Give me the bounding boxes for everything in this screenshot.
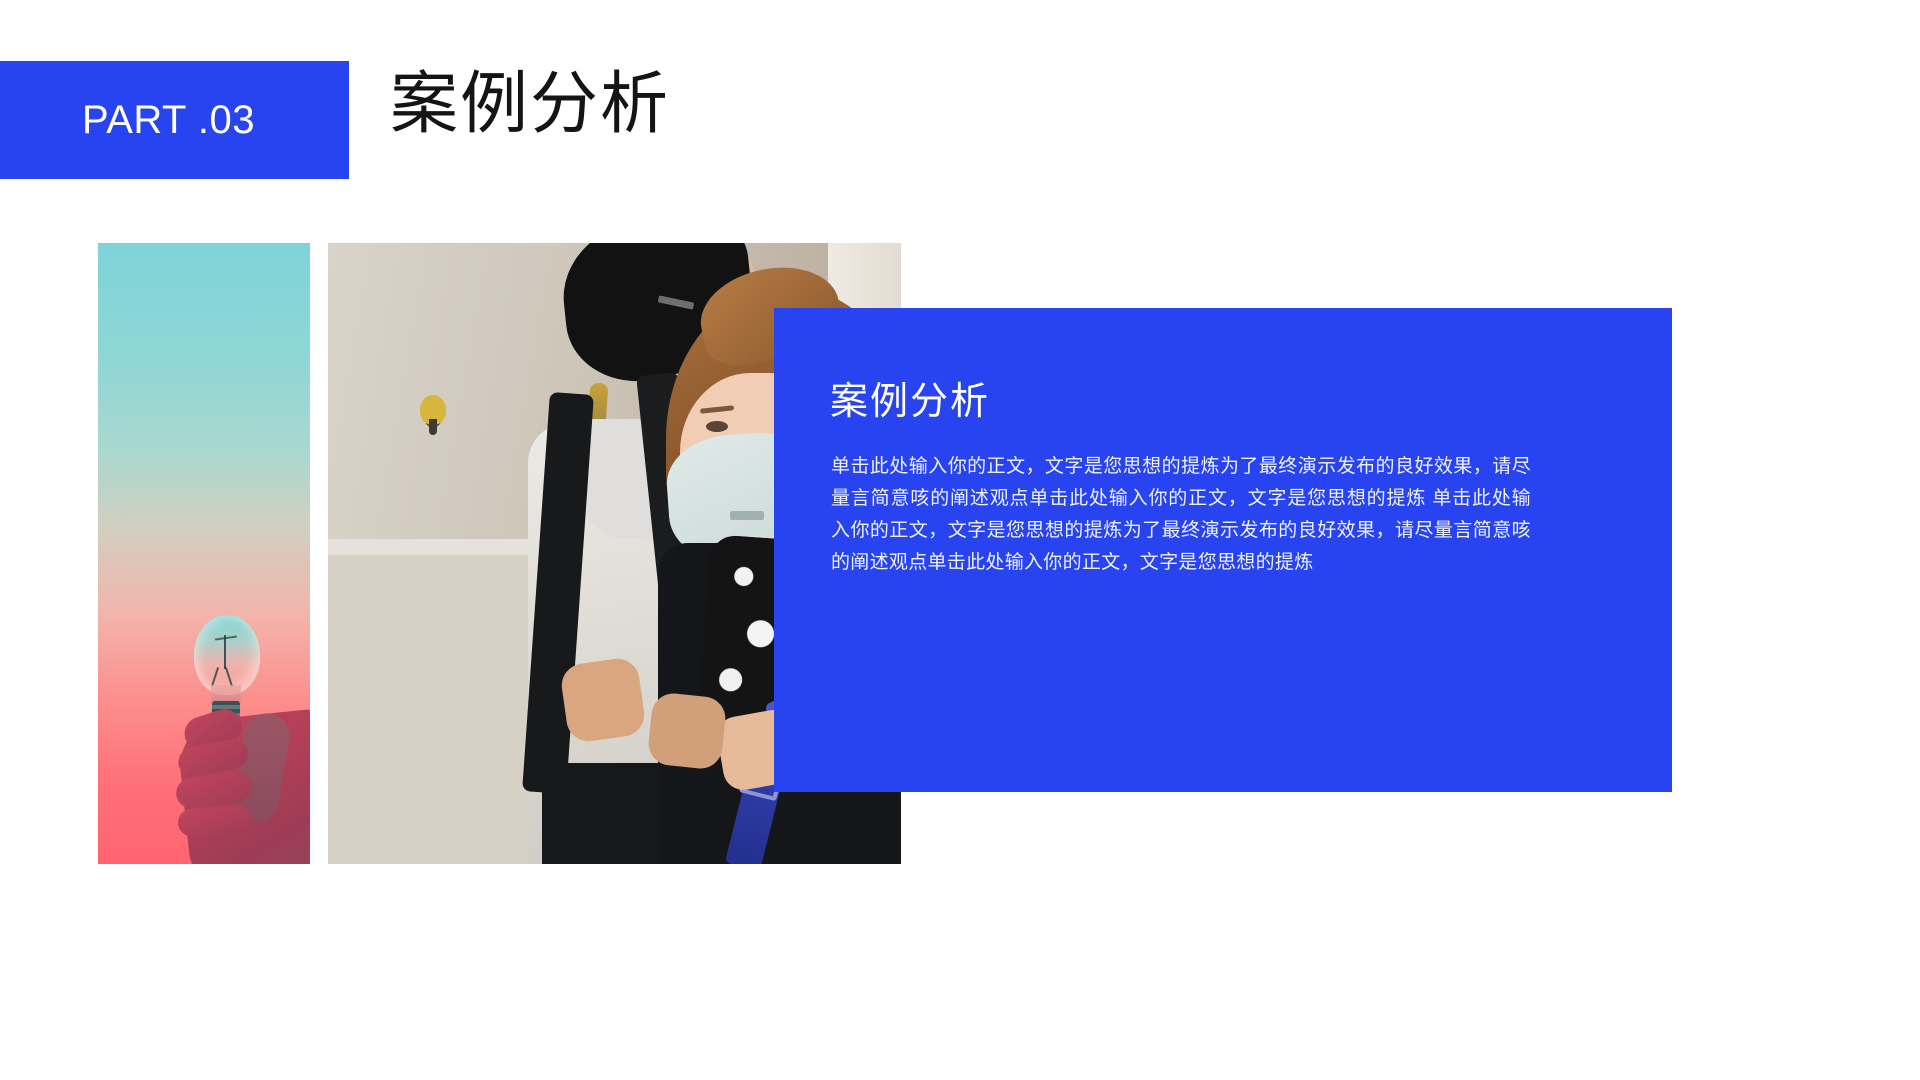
girl-mask-logo — [730, 511, 764, 520]
content-panel-heading: 案例分析 — [830, 370, 990, 425]
part-number-badge: PART .03 — [0, 61, 349, 179]
boy-hand — [559, 656, 647, 744]
content-panel: 案例分析 单击此处输入你的正文，文字是您思想的提炼为了最终演示发布的良好效果，请… — [774, 308, 1672, 792]
lightbulb-in-hand-gradient-photo — [98, 243, 310, 864]
boy-hand — [646, 691, 727, 770]
hand-finger — [177, 804, 253, 837]
girl-eye — [706, 421, 728, 432]
wall-hook-icon — [420, 395, 446, 425]
part-number-label: PART .03 — [82, 98, 255, 143]
content-panel-body-text: 单击此处输入你的正文，文字是您思想的提炼为了最终演示发布的良好效果，请尽量言简意… — [831, 451, 1531, 579]
page-title: 案例分析 — [390, 62, 670, 147]
slide-canvas: PART .03 案例分析 — [0, 0, 1920, 1080]
